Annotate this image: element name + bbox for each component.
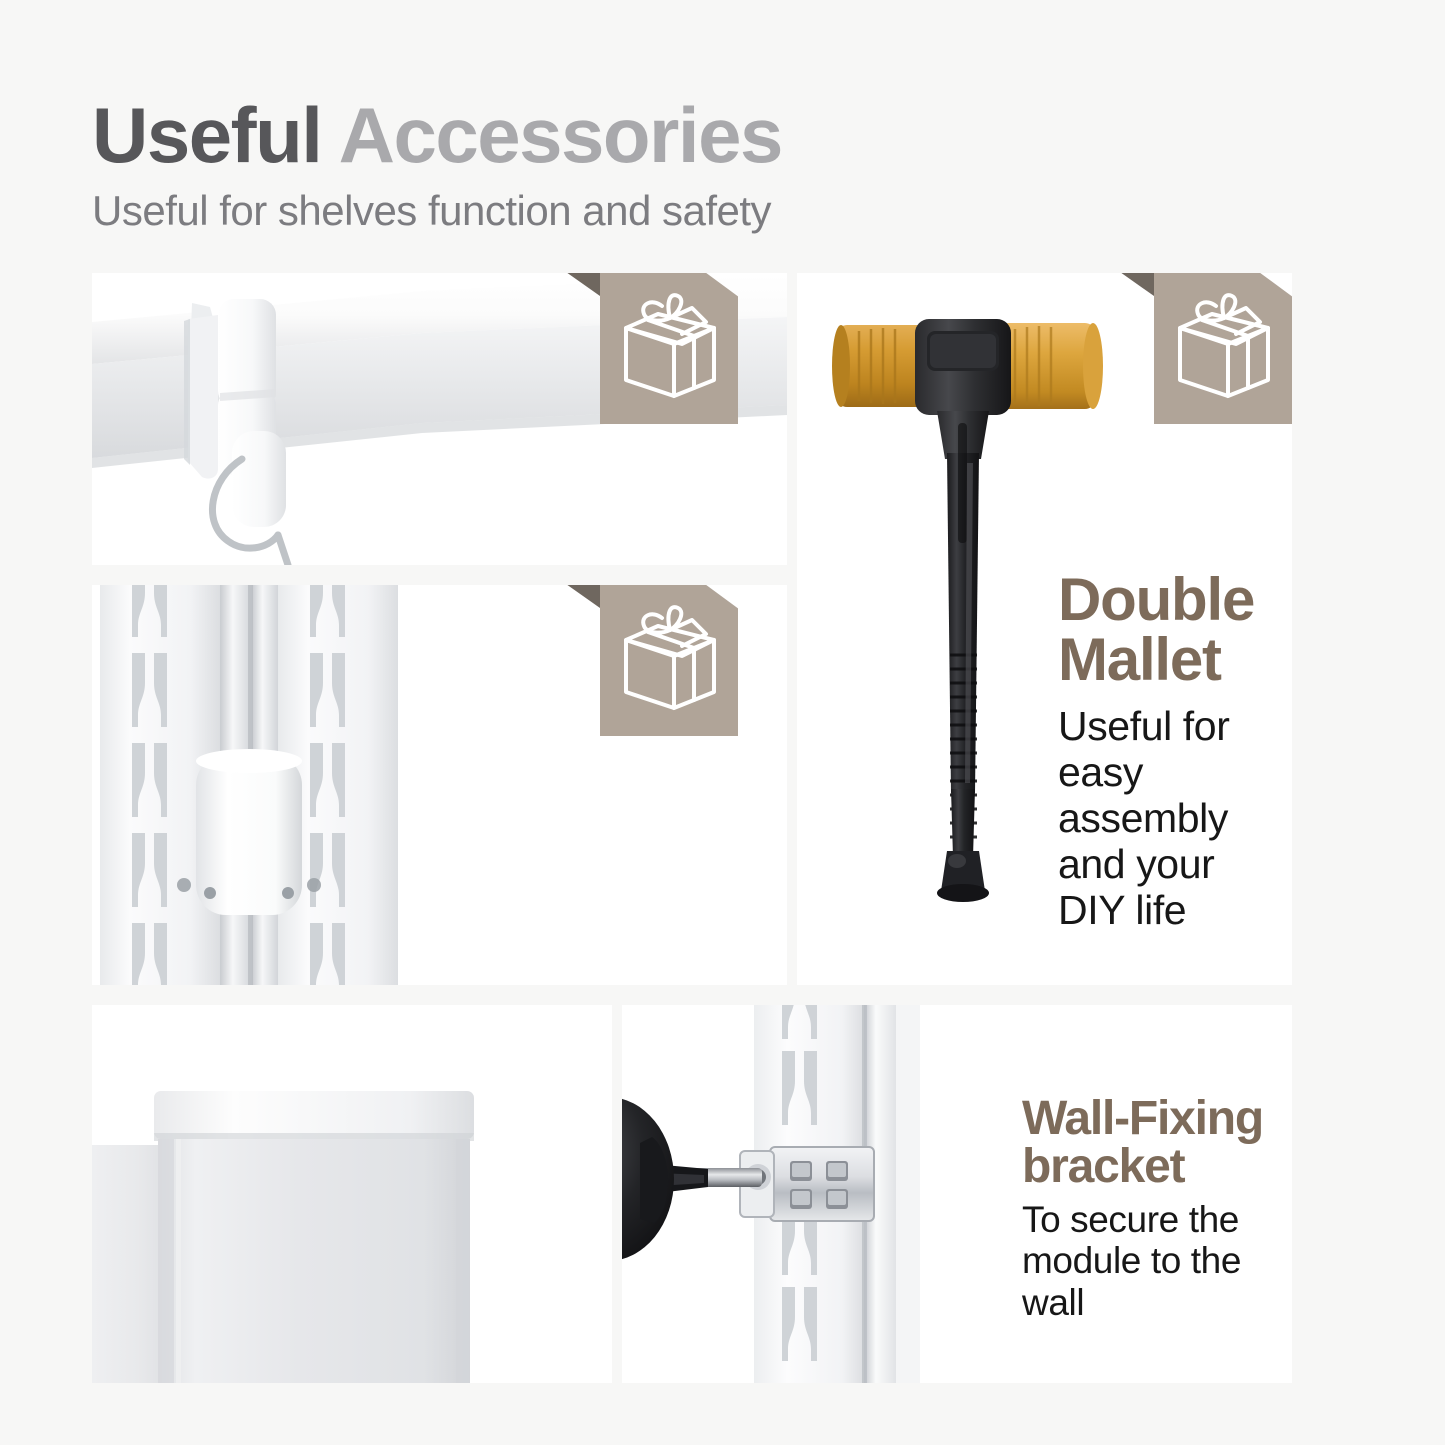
page-subtitle: Useful for shelves function and safety	[92, 188, 1292, 234]
body-line: easy assembly	[1058, 750, 1292, 842]
gift-box-icon	[1172, 292, 1276, 400]
body-line: Useful for	[1058, 704, 1292, 750]
panel-wall-fixing-bracket: Wall-Fixing bracket To secure the module…	[622, 1005, 1292, 1383]
heading-line: Double	[1058, 570, 1292, 630]
post-cap-illustration	[92, 1005, 612, 1383]
title-light: Accessories	[339, 91, 782, 179]
heading-line: Mallet	[1058, 630, 1292, 690]
heading-line: bracket	[1022, 1143, 1292, 1191]
wall-fixing-bracket-body: To secure the module to the wall	[1022, 1199, 1292, 1323]
panel-post-fixing-clip: Post Fixing Clip Using two modules like …	[92, 585, 787, 985]
double-mallet-heading: Double Mallet	[1058, 570, 1292, 690]
body-line: module to the wall	[1022, 1240, 1292, 1323]
page-title: Useful Accessories	[92, 96, 1292, 174]
double-mallet-body: Useful for easy assembly and your DIY li…	[1058, 704, 1292, 934]
wall-fixing-bracket-heading: Wall-Fixing bracket	[1022, 1095, 1292, 1191]
body-line: To secure the	[1022, 1199, 1292, 1240]
panel-c-hook: C-Hook More efficient Organize	[92, 273, 787, 565]
body-line: DIY life	[1058, 888, 1292, 934]
gift-box-icon	[618, 604, 722, 712]
panel-post-cap: Post Cap To prevent scratches and damage	[92, 1005, 612, 1383]
heading-line: Wall-Fixing	[1022, 1095, 1292, 1143]
double-mallet-text-block: Double Mallet Useful for easy assembly a…	[1058, 570, 1292, 934]
header: Useful Accessories Useful for shelves fu…	[92, 96, 1292, 234]
gift-box-icon	[618, 292, 722, 400]
body-line: and your	[1058, 842, 1292, 888]
panel-double-mallet: Double Mallet Useful for easy assembly a…	[797, 273, 1292, 985]
title-strong: Useful	[92, 91, 321, 179]
wall-fixing-bracket-text-block: Wall-Fixing bracket To secure the module…	[1022, 1095, 1292, 1323]
infographic-page: Useful Accessories Useful for shelves fu…	[0, 0, 1445, 1445]
